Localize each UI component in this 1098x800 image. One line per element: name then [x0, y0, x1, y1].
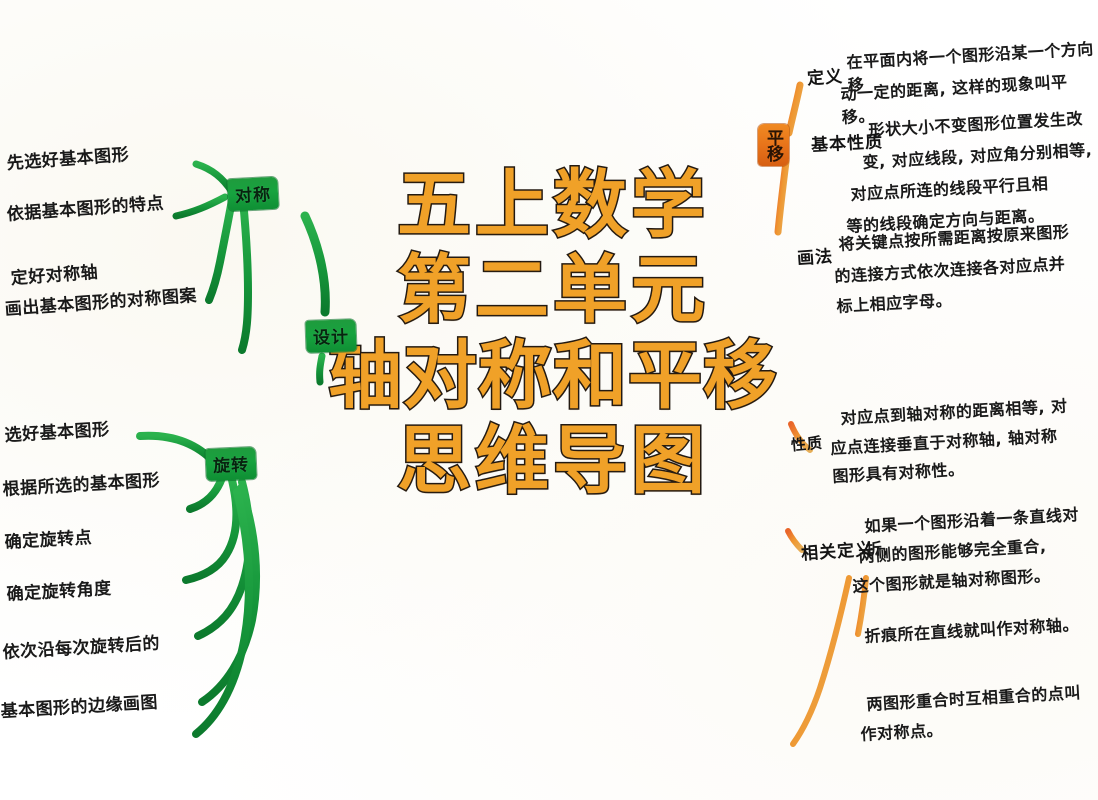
label-left-mid-sheji[interactable]: 设计 [305, 319, 356, 353]
note-dingyi-g3-1: 两图形重合时互相重合的点叫 [866, 682, 1081, 717]
note-left-bottom-4: 确定旋转角度 [6, 577, 112, 607]
note-left-bottom-1: 选好基本图形 [4, 418, 110, 448]
note-left-top-4: 画出基本图形的对称图案 [4, 284, 198, 322]
note-left-bottom-5: 依次沿每次旋转后的 [2, 632, 161, 665]
note-xingzhi-1: 对应点到轴对称的距离相等, 对 [840, 395, 1068, 430]
title-line-2: 第二单元 [288, 253, 818, 328]
note-pingyi-xingzhi-3: 对应点所连的线段平行且相 [850, 173, 1049, 207]
label-left-top-duicheng[interactable]: 对称 [227, 177, 279, 212]
note-dingyi-g1-3: 这个图形就是轴对称图形。 [852, 565, 1051, 599]
key-jibenxingzhi: 基本性质 [803, 124, 891, 160]
note-xingzhi-3: 图形具有对称性。 [832, 459, 965, 489]
mindmap-page: 五上数学 第二单元 轴对称和平移 思维导图 对称 先选好基本图形 依据基本图形的… [0, 0, 1098, 800]
title-line-1: 五上数学 [288, 168, 818, 243]
label-right-top-pingyi[interactable]: 平移 [758, 124, 789, 166]
note-pingyi-huafa-2: 的连接方式依次连接各对应点并 [834, 253, 1066, 289]
note-left-top-3: 定好对称轴 [10, 261, 99, 291]
key-xiangguandingyi: 相关定义 [793, 531, 881, 569]
note-left-bottom-3: 确定旋转点 [4, 526, 93, 555]
label-left-bottom-xuanzhuan[interactable]: 旋转 [205, 447, 256, 481]
note-left-top-1: 先选好基本图形 [6, 143, 130, 176]
note-left-top-2: 依据基本图形的特点 [6, 191, 165, 227]
note-dingyi-g2-1: 折痕所在直线就叫作对称轴。 [864, 614, 1079, 649]
key-dingyi: 定义 [799, 58, 851, 93]
note-pingyi-huafa-3: 标上相应字母。 [836, 290, 953, 319]
title-line-3: 轴对称和平移 [288, 339, 818, 414]
key-huafa: 画法 [789, 238, 841, 273]
note-pingyi-xingzhi-2: 变, 对应线段, 对应角分别相等, [862, 139, 1093, 175]
note-dingyi-g3-2: 作对称点。 [860, 719, 944, 746]
note-left-bottom-2: 根据所选的基本图形 [2, 469, 161, 502]
mindmap-title: 五上数学 第二单元 轴对称和平移 思维导图 [288, 168, 818, 500]
title-line-4: 思维导图 [288, 424, 818, 499]
note-left-bottom-6: 基本图形的边缘画图 [0, 691, 159, 724]
note-xingzhi-2: 应点连接垂直于对称轴, 轴对称 [830, 425, 1058, 460]
key-xingzhi: 性质 [783, 428, 831, 460]
